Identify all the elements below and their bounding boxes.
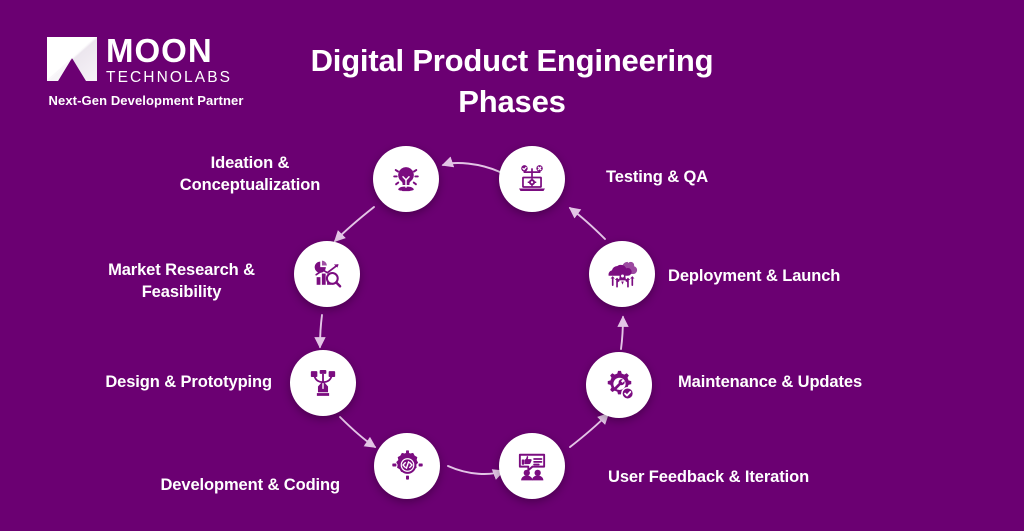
laptop-test-icon xyxy=(514,161,550,197)
pen-tool-icon xyxy=(305,365,341,401)
gear-code-icon xyxy=(389,448,426,485)
phase-label-user-feedback: User Feedback & Iteration xyxy=(608,467,868,489)
phase-label-development: Development & Coding xyxy=(110,475,340,497)
phase-node-testing[interactable] xyxy=(499,146,565,212)
phase-node-deployment[interactable] xyxy=(589,241,655,307)
chart-magnifier-icon xyxy=(309,256,345,292)
phase-label-maintenance: Maintenance & Updates xyxy=(678,372,938,394)
phase-label-market-research: Market Research & Feasibility xyxy=(84,260,279,304)
lightbulb-idea-icon xyxy=(387,160,425,198)
cycle-diagram: Ideation & Conceptualization xyxy=(0,0,1024,531)
phase-node-development[interactable] xyxy=(374,433,440,499)
phase-label-ideation: Ideation & Conceptualization xyxy=(150,153,350,197)
phase-label-deployment: Deployment & Launch xyxy=(668,266,938,288)
phase-node-ideation[interactable] xyxy=(373,146,439,212)
phase-node-maintenance[interactable] xyxy=(586,352,652,418)
cloud-rocket-icon xyxy=(604,256,641,293)
thumbs-up-feedback-icon xyxy=(514,448,550,484)
phase-label-design: Design & Prototyping xyxy=(92,372,272,394)
gear-wrench-check-icon xyxy=(601,367,638,404)
phase-node-market-research[interactable] xyxy=(294,241,360,307)
phase-node-design[interactable] xyxy=(290,350,356,416)
phase-label-testing: Testing & QA xyxy=(606,167,836,189)
infographic-canvas: MOON TECHNOLABS Next-Gen Development Par… xyxy=(0,0,1024,531)
phase-node-user-feedback[interactable] xyxy=(499,433,565,499)
